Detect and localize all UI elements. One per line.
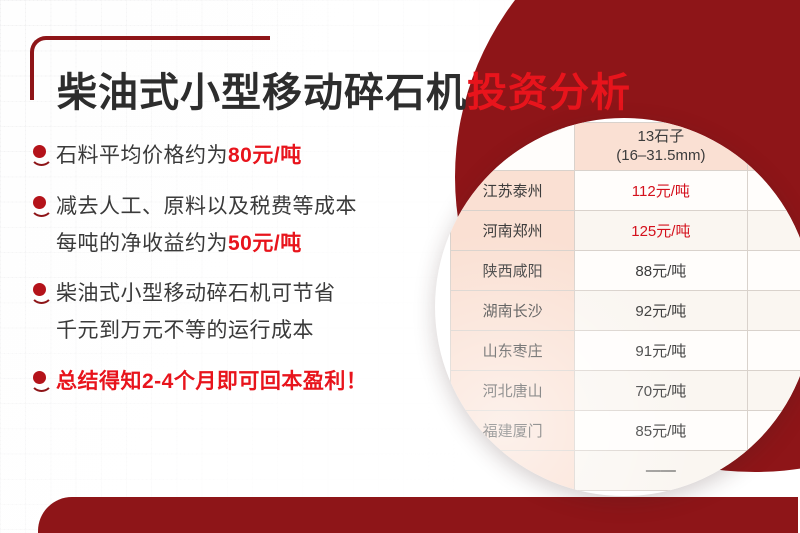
table-cell-price-col1: 85元/吨 <box>575 411 747 451</box>
bullet-text-block: 石料平均价格约为80元/吨 <box>56 138 302 175</box>
table-row: —— <box>451 451 800 491</box>
bullet-plain-text: 减去人工、原料以及税费等成本 <box>56 195 357 218</box>
bullet-plain-text: 总结得知2-4个月即可回本盈利！ <box>56 370 367 393</box>
price-table-circle-card: 13石子 (16–31.5mm) (10– 江苏泰州112元/吨113元/吨河南… <box>435 118 800 496</box>
bullet-plain-text: 柴油式小型移动碎石机可节省 <box>56 282 336 305</box>
bullet-arc-icon <box>30 288 53 304</box>
table-cell-price-col1: 112元/吨 <box>575 171 747 211</box>
table-head: 13石子 (16–31.5mm) (10– <box>451 123 800 171</box>
bullet-list: 石料平均价格约为80元/吨减去人工、原料以及税费等成本每吨的净收益约为50元/吨… <box>30 138 430 415</box>
bullet-arc-icon <box>30 201 53 217</box>
table-cell-region: 陕西咸阳 <box>451 251 575 291</box>
table-header-col2-line2: (10– <box>752 137 800 156</box>
page-title: 柴油式小型移动碎石机投资分析 <box>57 73 631 113</box>
bullet-text-block: 柴油式小型移动碎石机可节省千元到万元不等的运行成本 <box>56 276 336 350</box>
table-cell-price-col2: 92元/吨 <box>747 291 800 331</box>
table-cell-price-col2: 113元/吨 <box>747 171 800 211</box>
table-header-col2: (10– <box>747 123 800 171</box>
price-table-clip: 13石子 (16–31.5mm) (10– 江苏泰州112元/吨113元/吨河南… <box>435 118 800 496</box>
table-cell-region: 河南郑州 <box>451 211 575 251</box>
bullet-text-block: 减去人工、原料以及税费等成本每吨的净收益约为50元/吨 <box>56 189 357 263</box>
table-row: 山东枣庄91元/吨91元/吨 <box>451 331 800 371</box>
table-cell-region: 福建厦门 <box>451 411 575 451</box>
table-cell-price-col1: —— <box>575 451 747 491</box>
bullet-item: 减去人工、原料以及税费等成本每吨的净收益约为50元/吨 <box>30 189 430 263</box>
stone-price-table: 13石子 (16–31.5mm) (10– 江苏泰州112元/吨113元/吨河南… <box>450 122 800 491</box>
table-header-col1-line2: (16–31.5mm) <box>579 147 742 166</box>
bullet-arc-icon <box>30 376 53 392</box>
bullet-highlight-text: 50元/吨 <box>228 232 302 255</box>
bullet-line: 每吨的净收益约为50元/吨 <box>56 226 357 263</box>
table-header-row: 13石子 (16–31.5mm) (10– <box>451 123 800 171</box>
table-cell-price-col2: 130元/吨 <box>747 211 800 251</box>
table-cell-price-col2: 105元/吨 <box>747 251 800 291</box>
bullet-line: 总结得知2-4个月即可回本盈利！ <box>56 364 367 401</box>
bullet-marker-icon <box>30 192 56 222</box>
bullet-line: 减去人工、原料以及税费等成本 <box>56 189 357 226</box>
bullet-line: 柴油式小型移动碎石机可节省 <box>56 276 336 313</box>
table-row: 湖南长沙92元/吨92元/吨 <box>451 291 800 331</box>
bullet-plain-text: 千元到万元不等的运行成本 <box>56 319 314 342</box>
poster-canvas: 柴油式小型移动碎石机投资分析 石料平均价格约为80元/吨减去人工、原料以及税费等… <box>0 0 800 533</box>
bullet-marker-icon <box>30 367 56 397</box>
table-body: 江苏泰州112元/吨113元/吨河南郑州125元/吨130元/吨陕西咸阳88元/… <box>451 171 800 491</box>
bullet-item: 柴油式小型移动碎石机可节省千元到万元不等的运行成本 <box>30 276 430 350</box>
table-row: 河北唐山70元/吨70元/吨 <box>451 371 800 411</box>
table-cell-price-col2: 70元/吨 <box>747 371 800 411</box>
table-cell-price-col1: 91元/吨 <box>575 331 747 371</box>
table-cell-region: 河北唐山 <box>451 371 575 411</box>
bullet-plain-text: 每吨的净收益约为 <box>56 232 228 255</box>
table-cell-price-col1: 125元/吨 <box>575 211 747 251</box>
table-header-col1-line1: 13石子 <box>579 128 742 147</box>
bullet-marker-icon <box>30 141 56 171</box>
bullet-line: 石料平均价格约为80元/吨 <box>56 138 302 175</box>
page-title-main: 柴油式小型移动碎石机 <box>57 71 467 115</box>
table-row: 陕西咸阳88元/吨105元/吨 <box>451 251 800 291</box>
table-cell-price-col1: 88元/吨 <box>575 251 747 291</box>
table-cell-price-col2: 91元/吨 <box>747 331 800 371</box>
bullet-line: 千元到万元不等的运行成本 <box>56 313 336 350</box>
title-bracket-extension <box>70 36 270 40</box>
table-cell-region: 山东枣庄 <box>451 331 575 371</box>
page-title-accent: 投资分析 <box>467 71 631 115</box>
table-cell-region: 江苏泰州 <box>451 171 575 211</box>
table-cell-price-col1: 92元/吨 <box>575 291 747 331</box>
table-cell-region <box>451 451 575 491</box>
red-bottom-bar-decoration <box>38 497 798 533</box>
bullet-item: 总结得知2-4个月即可回本盈利！ <box>30 364 430 401</box>
table-row: 江苏泰州112元/吨113元/吨 <box>451 171 800 211</box>
bullet-arc-icon <box>30 150 53 166</box>
table-corner-cell <box>451 123 575 171</box>
bullet-text-block: 总结得知2-4个月即可回本盈利！ <box>56 364 367 401</box>
table-row: 福建厦门85元/吨85元/吨 <box>451 411 800 451</box>
table-cell-price-col2 <box>747 451 800 491</box>
table-cell-price-col2: 85元/吨 <box>747 411 800 451</box>
table-header-col1: 13石子 (16–31.5mm) <box>575 123 747 171</box>
table-cell-price-col1: 70元/吨 <box>575 371 747 411</box>
table-row: 河南郑州125元/吨130元/吨 <box>451 211 800 251</box>
bullet-marker-icon <box>30 279 56 309</box>
bullet-highlight-text: 80元/吨 <box>228 144 302 167</box>
bullet-item: 石料平均价格约为80元/吨 <box>30 138 430 175</box>
bullet-plain-text: 石料平均价格约为 <box>56 144 228 167</box>
table-cell-region: 湖南长沙 <box>451 291 575 331</box>
